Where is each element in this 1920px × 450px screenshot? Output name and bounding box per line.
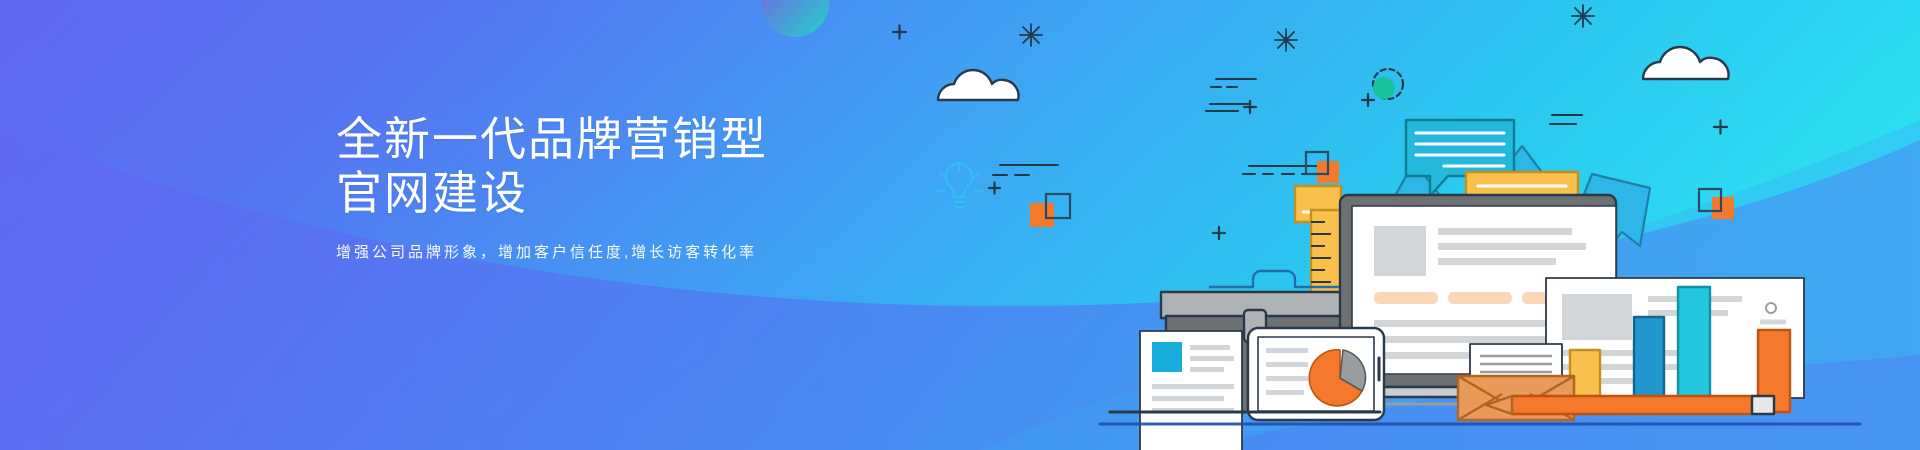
banner-text-block: 全新一代品牌营销型 官网建设 增强公司品牌形象，增加客户信任度,增长访客转化率 xyxy=(336,112,1036,264)
page-title: 全新一代品牌营销型 官网建设 xyxy=(336,112,1036,220)
document-left xyxy=(1140,331,1242,450)
banner-subtitle: 增强公司品牌形象，增加客户信任度,增长访客转化率 xyxy=(336,242,1036,264)
tablet-pie-chart xyxy=(1248,328,1384,420)
pie-chart xyxy=(1309,350,1365,406)
hero-banner: 全新一代品牌营销型 官网建设 增强公司品牌形象，增加客户信任度,增长访客转化率 xyxy=(0,0,1920,450)
pencil xyxy=(1486,396,1774,414)
